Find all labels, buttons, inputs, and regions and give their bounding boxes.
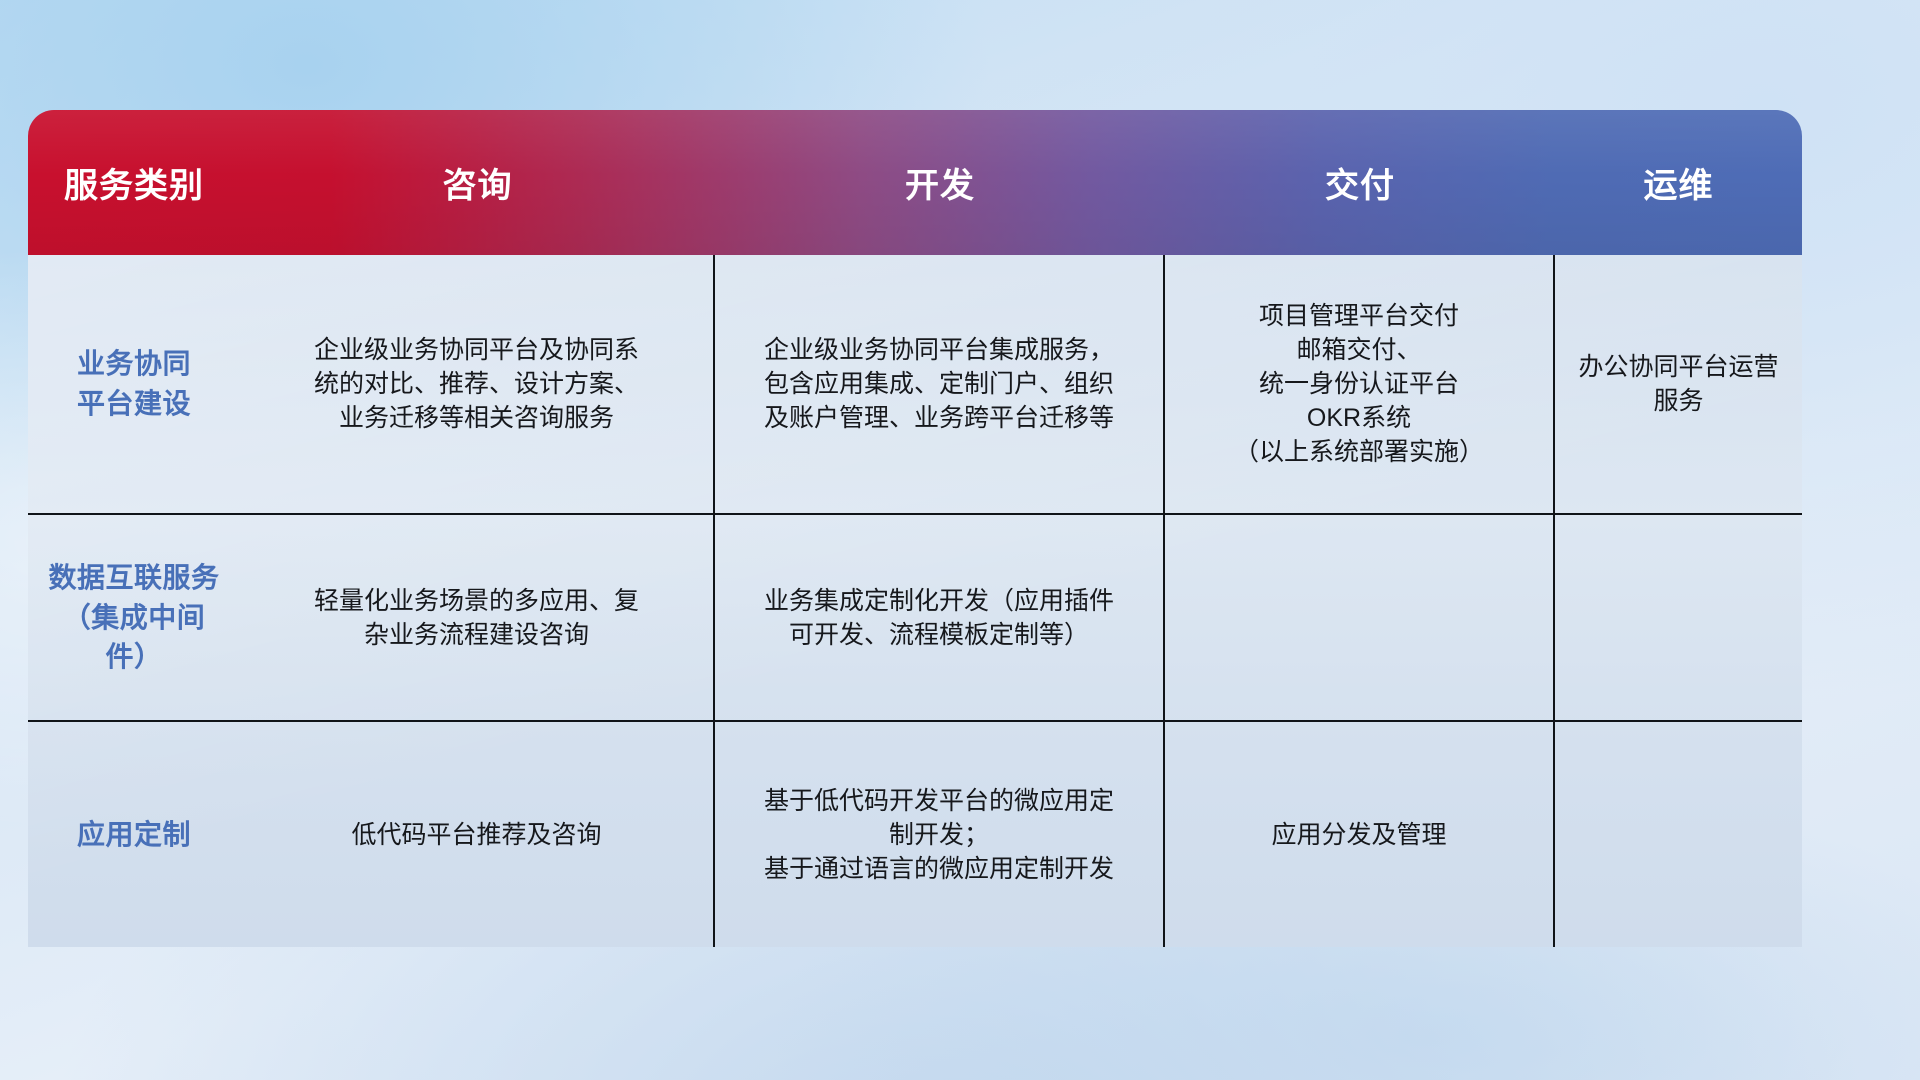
cell-r1-consulting: 企业级业务协同平台及协同系 统的对比、推荐、设计方案、 业务迁移等相关咨询服务 — [240, 255, 715, 513]
table-header-row: 服务类别 咨询 开发 交付 运维 — [28, 110, 1802, 255]
row-label-business-collaboration: 业务协同 平台建设 — [28, 255, 240, 513]
cell-r2-consulting: 轻量化业务场景的多应用、复 杂业务流程建设咨询 — [240, 515, 715, 720]
table-body: 业务协同 平台建设 企业级业务协同平台及协同系 统的对比、推荐、设计方案、 业务… — [28, 255, 1802, 947]
header-cell-category: 服务类别 — [28, 158, 240, 207]
header-cell-consulting: 咨询 — [240, 158, 715, 207]
cell-r3-development: 基于低代码开发平台的微应用定 制开发； 基于通过语言的微应用定制开发 — [715, 722, 1165, 947]
service-matrix-table: 服务类别 咨询 开发 交付 运维 业务协同 平台建设 企业级业务协同平台及协同系… — [28, 110, 1802, 947]
table-row: 数据互联服务 （集成中间件） 轻量化业务场景的多应用、复 杂业务流程建设咨询 业… — [28, 515, 1802, 722]
cell-r3-consulting: 低代码平台推荐及咨询 — [240, 722, 715, 947]
row-label-data-interconnect: 数据互联服务 （集成中间件） — [28, 515, 240, 720]
cell-r1-operations: 办公协同平台运营服务 — [1555, 255, 1802, 513]
cell-r2-development: 业务集成定制化开发（应用插件 可开发、流程模板定制等） — [715, 515, 1165, 720]
cell-r3-delivery: 应用分发及管理 — [1165, 722, 1555, 947]
cell-r3-operations — [1555, 722, 1802, 947]
cell-r2-delivery — [1165, 515, 1555, 720]
cell-r2-operations — [1555, 515, 1802, 720]
table-row: 业务协同 平台建设 企业级业务协同平台及协同系 统的对比、推荐、设计方案、 业务… — [28, 255, 1802, 515]
row-label-app-customization: 应用定制 — [28, 722, 240, 947]
header-cell-development: 开发 — [715, 158, 1165, 207]
cell-r1-delivery: 项目管理平台交付 邮箱交付、 统一身份认证平台 OKR系统 （以上系统部署实施） — [1165, 255, 1555, 513]
header-cell-operations: 运维 — [1555, 158, 1802, 207]
header-cell-delivery: 交付 — [1165, 158, 1555, 207]
cell-r1-development: 企业级业务协同平台集成服务， 包含应用集成、定制门户、组织 及账户管理、业务跨平… — [715, 255, 1165, 513]
table-row: 应用定制 低代码平台推荐及咨询 基于低代码开发平台的微应用定 制开发； 基于通过… — [28, 722, 1802, 947]
